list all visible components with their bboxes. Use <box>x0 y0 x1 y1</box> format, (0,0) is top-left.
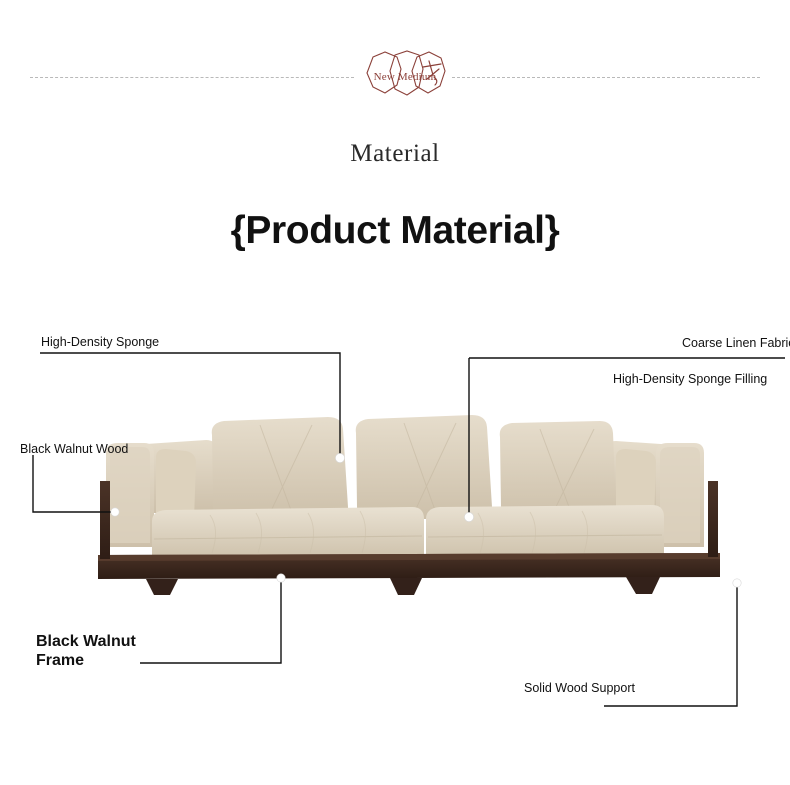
header-divider-left <box>30 77 354 78</box>
annotation-coarse-linen-fabric: Coarse Linen Fabric <box>682 336 790 352</box>
annotation-black-walnut-wood: Black Walnut Wood <box>20 442 128 458</box>
annotation-high-density-sponge-filling: High-Density Sponge Filling <box>613 372 767 388</box>
brand-logo: New Medium <box>355 49 455 105</box>
infographic-canvas: New Medium Material {Product Material} <box>0 0 790 785</box>
annotation-solid-wood-support: Solid Wood Support <box>524 681 635 697</box>
header-divider-right <box>452 77 760 78</box>
annotation-high-density-sponge: High-Density Sponge <box>41 335 159 351</box>
sofa-product-image <box>60 395 760 605</box>
annotation-black-walnut-frame: Black Walnut Frame <box>36 632 136 670</box>
page-title: {Product Material} <box>0 209 790 253</box>
sofa-illustration <box>60 395 760 605</box>
three-overlapping-octagons-logo-icon <box>355 49 455 105</box>
section-subtitle: Material <box>0 140 790 168</box>
